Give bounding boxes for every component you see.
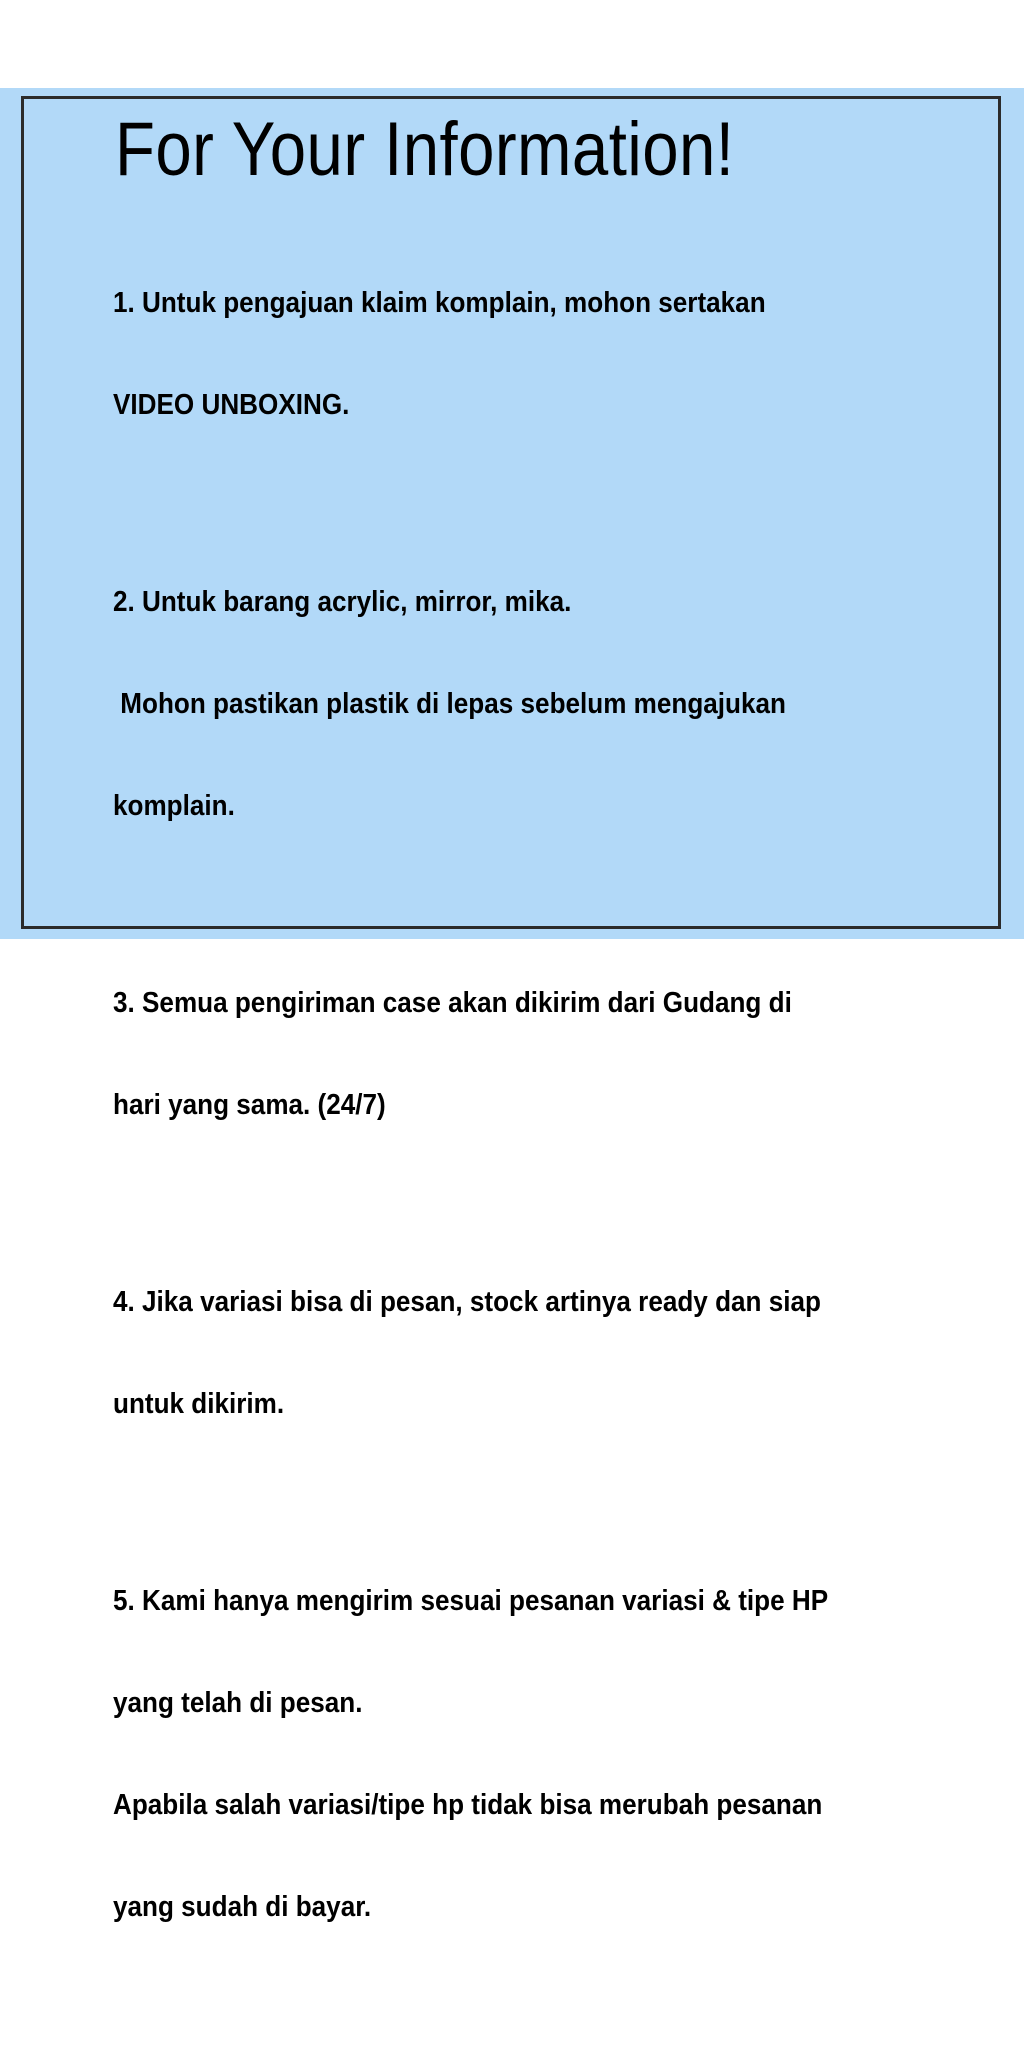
notice-item-6: 6. Barang yang sudah di beli tidak bisa … — [113, 2019, 860, 2048]
notice-item-5: 5. Kami hanya mengirim sesuai pesanan va… — [113, 1516, 860, 1992]
notice-item-2-line-2: Mohon pastikan plastik di lepas sebelum … — [113, 687, 860, 721]
notice-panel: For Your Information! 1. Untuk pengajuan… — [0, 88, 1024, 939]
notice-item-3-line-1: 3. Semua pengiriman case akan dikirim da… — [113, 986, 860, 1020]
notice-item-5-line-2: yang telah di pesan. — [113, 1686, 860, 1720]
notice-item-1-line-1: 1. Untuk pengajuan klaim komplain, mohon… — [113, 286, 860, 320]
notice-item-5-line-4: yang sudah di bayar. — [113, 1890, 860, 1924]
notice-item-list: 1. Untuk pengajuan klaim komplain, mohon… — [113, 218, 943, 2048]
notice-item-2-line-1: 2. Untuk barang acrylic, mirror, mika. — [113, 585, 860, 619]
notice-item-5-line-3: Apabila salah variasi/tipe hp tidak bisa… — [113, 1788, 860, 1822]
notice-page: For Your Information! 1. Untuk pengajuan… — [0, 0, 1024, 1024]
notice-item-2: 2. Untuk barang acrylic, mirror, mika. M… — [113, 517, 860, 891]
notice-item-5-line-1: 5. Kami hanya mengirim sesuai pesanan va… — [113, 1584, 860, 1618]
notice-item-4: 4. Jika variasi bisa di pesan, stock art… — [113, 1217, 860, 1489]
notice-item-2-line-3: komplain. — [113, 789, 860, 823]
notice-item-3-line-2: hari yang sama. (24/7) — [113, 1088, 860, 1122]
notice-item-4-line-1: 4. Jika variasi bisa di pesan, stock art… — [113, 1285, 860, 1319]
notice-item-3: 3. Semua pengiriman case akan dikirim da… — [113, 918, 860, 1190]
notice-item-1-line-2: VIDEO UNBOXING. — [113, 388, 860, 422]
notice-item-4-line-2: untuk dikirim. — [113, 1387, 860, 1421]
page-title: For Your Information! — [115, 104, 829, 196]
notice-item-1: 1. Untuk pengajuan klaim komplain, mohon… — [113, 218, 860, 490]
